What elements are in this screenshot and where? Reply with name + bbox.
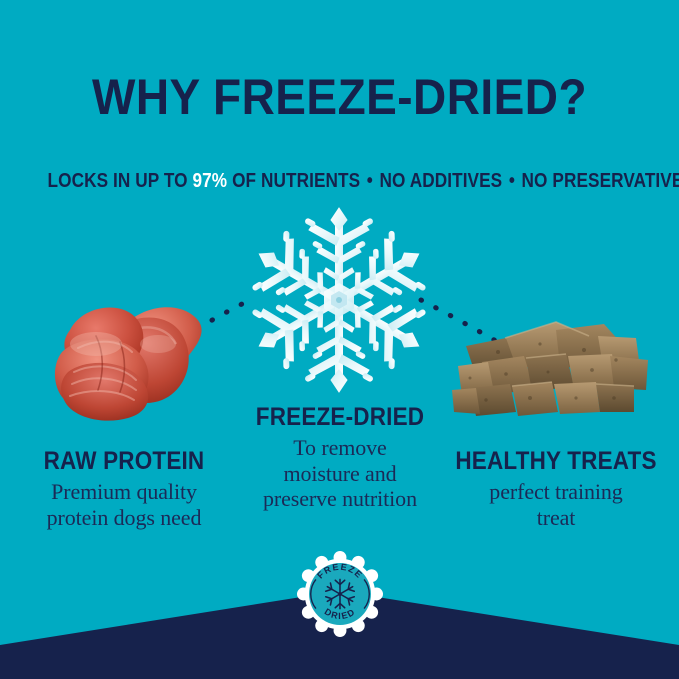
subhead-part2: OF NUTRIENTS xyxy=(232,170,360,192)
column-freeze-dried: FREEZE-DRIED To remove moisture and pres… xyxy=(226,404,454,512)
subhead-separator-1: • xyxy=(365,170,375,192)
column-title-freeze-dried: FREEZE-DRIED xyxy=(237,404,442,430)
raw-meat-photo xyxy=(55,307,202,420)
freeze-dried-badge: FREEZE DRIED xyxy=(297,551,383,637)
subhead-part4: NO PRESERVATIVES xyxy=(522,170,679,192)
body-line: moisture and xyxy=(226,461,454,487)
subheadline: LOCKS IN UP TO 97% OF NUTRIENTS • NO ADD… xyxy=(48,170,632,193)
body-line: Premium quality xyxy=(8,479,240,505)
column-raw-protein: RAW PROTEIN Premium quality protein dogs… xyxy=(8,448,240,530)
subhead-separator-2: • xyxy=(507,170,517,192)
body-line: preserve nutrition xyxy=(226,486,454,512)
column-body-raw-protein: Premium quality protein dogs need xyxy=(8,479,240,530)
dotted-connector-left xyxy=(183,299,252,337)
body-line: protein dogs need xyxy=(8,505,240,531)
infographic-poster: WHY FREEZE-DRIED? LOCKS IN UP TO 97% OF … xyxy=(0,0,679,679)
body-line: perfect training xyxy=(440,479,672,505)
column-healthy-treats: HEALTHY TREATS perfect training treat xyxy=(440,448,672,530)
page-title: WHY FREEZE-DRIED? xyxy=(27,72,652,122)
column-title-raw-protein: RAW PROTEIN xyxy=(20,448,229,474)
body-line: treat xyxy=(440,505,672,531)
dotted-connector-right xyxy=(421,300,496,341)
column-body-freeze-dried: To remove moisture and preserve nutritio… xyxy=(226,435,454,512)
subhead-highlight-97: 97% xyxy=(193,170,228,192)
subhead-part3: NO ADDITIVES xyxy=(380,170,503,192)
freeze-dried-treats-photo xyxy=(452,322,648,416)
subhead-part1: LOCKS IN UP TO xyxy=(48,170,188,192)
snowflake-icon xyxy=(242,208,436,392)
body-line: To remove xyxy=(226,435,454,461)
column-body-healthy-treats: perfect training treat xyxy=(440,479,672,530)
column-title-healthy-treats: HEALTHY TREATS xyxy=(452,448,661,474)
